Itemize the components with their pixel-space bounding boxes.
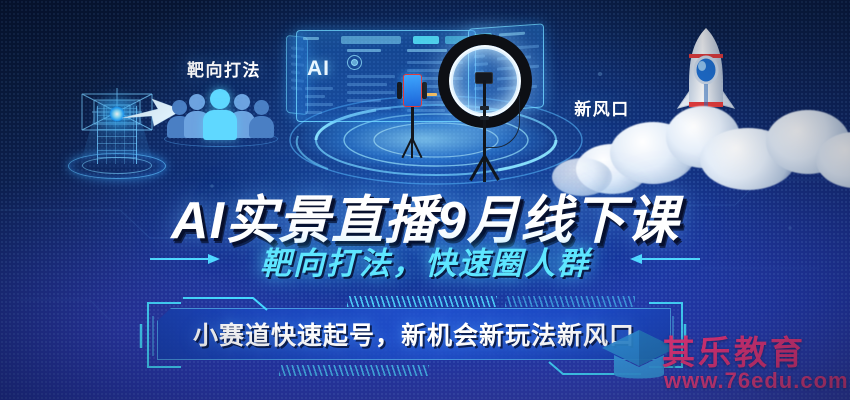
ring-light-cable — [486, 96, 520, 148]
phone-clamp-left — [397, 82, 402, 99]
banner-label: 小赛道快速起号，新机会新玩法新风口 — [157, 308, 671, 360]
person-head — [234, 94, 250, 110]
phone-clamp-right — [422, 82, 427, 99]
watermark: 其乐教育 www.76edu.com — [600, 316, 850, 400]
person-head — [254, 100, 269, 115]
crowd-group-icon — [170, 88, 272, 140]
person-head — [189, 94, 205, 110]
radar-tower-hologram-icon — [62, 78, 172, 183]
person-head-featured — [210, 89, 230, 109]
phone-tripod-pole — [411, 107, 414, 140]
panel-gauge-inner — [351, 59, 358, 66]
arrow-left-accent-icon — [628, 252, 700, 266]
person-body-featured — [203, 110, 237, 140]
panel-title-chip — [341, 36, 401, 44]
page-subtitle: 靶向打法，快速圈人群 — [0, 238, 850, 283]
label-new-trend: 新风口 — [556, 95, 648, 120]
ring-light-tripod-icon — [434, 34, 536, 182]
ai-logo-text: AI — [307, 57, 330, 81]
label-targeting-strategy: 靶向打法 — [168, 56, 280, 81]
person-head — [172, 100, 187, 115]
person-body — [249, 116, 274, 138]
smartphone-tripod-icon — [390, 74, 434, 160]
watermark-url: www.76edu.com — [664, 368, 849, 394]
phone-screen — [403, 74, 422, 107]
poster-canvas: AI — [0, 0, 850, 400]
phone-tripod-leg — [411, 138, 413, 158]
watermark-brand: 其乐教育 — [662, 326, 806, 374]
radar-base-ring-inner — [82, 157, 152, 174]
